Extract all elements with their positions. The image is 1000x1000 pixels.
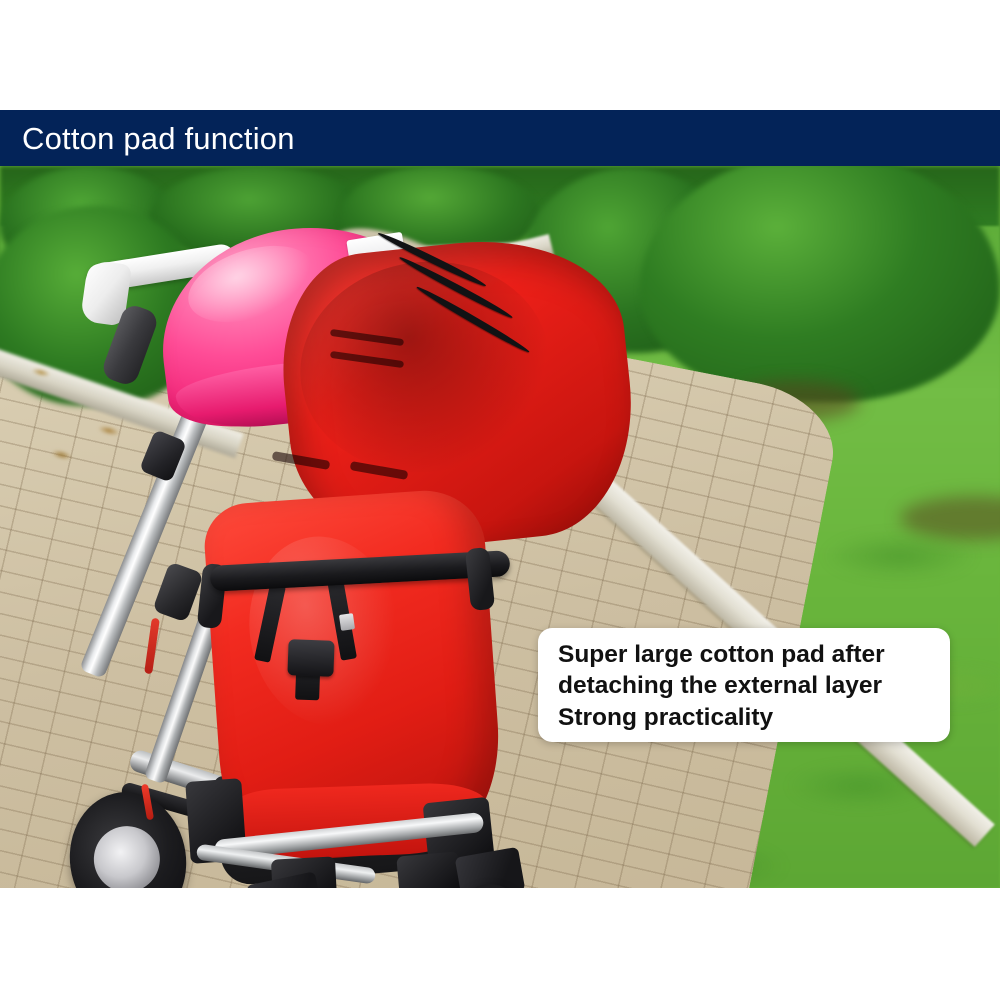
front-leg-right — [396, 851, 461, 888]
rear-wheel-hub — [90, 822, 165, 888]
callout-line-1: Super large cotton pad after — [558, 639, 934, 670]
harness-adjuster-clip — [339, 613, 355, 631]
harness-buckle — [287, 639, 334, 677]
frame-joint-lower — [152, 561, 204, 622]
callout-line-2: detaching the external layer — [558, 670, 934, 701]
product-photo: Super large cotton pad after detaching t… — [0, 166, 1000, 888]
baby-stroller — [0, 166, 1000, 888]
brake-lever — [144, 618, 160, 675]
page-title: Cotton pad function — [0, 123, 295, 154]
title-banner: Cotton pad function — [0, 110, 1000, 166]
product-feature-slide: Cotton pad function — [0, 0, 1000, 1000]
callout-line-3: Strong practicality — [558, 702, 934, 733]
feature-callout: Super large cotton pad after detaching t… — [538, 628, 950, 742]
